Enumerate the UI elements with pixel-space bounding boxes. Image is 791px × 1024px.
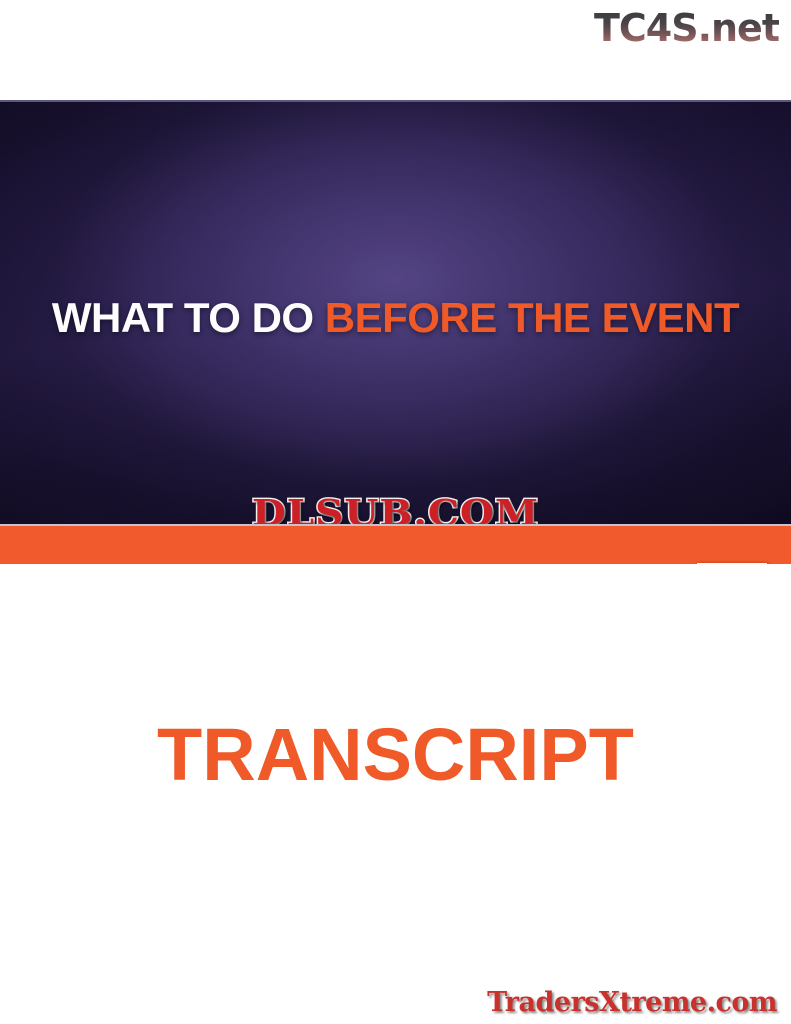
tc4s-watermark-text: TC4S.net xyxy=(594,9,779,47)
slide-title: WHAT TO DO BEFORE THE EVENT xyxy=(0,294,791,342)
tradersxtreme-watermark-text: TradersXtreme.com xyxy=(487,987,777,1018)
transcript-cover-page: TC4S.net WHAT TO DO BEFORE THE EVENT DLS… xyxy=(0,0,791,1024)
slide-title-white-part: WHAT TO DO xyxy=(52,294,314,341)
slide-title-orange-part: BEFORE THE EVENT xyxy=(325,294,739,341)
page-title: TRANSCRIPT xyxy=(0,712,791,797)
slide-image: WHAT TO DO BEFORE THE EVENT DLSUB.COM YO… xyxy=(0,100,791,564)
top-site-watermark: TC4S.net xyxy=(594,0,779,56)
footer-site-watermark: TradersXtreme.com xyxy=(487,987,777,1018)
slide-orange-band xyxy=(0,526,791,564)
you-everywhere-now-logo: YOU EVERYWHERE N xyxy=(697,563,767,564)
